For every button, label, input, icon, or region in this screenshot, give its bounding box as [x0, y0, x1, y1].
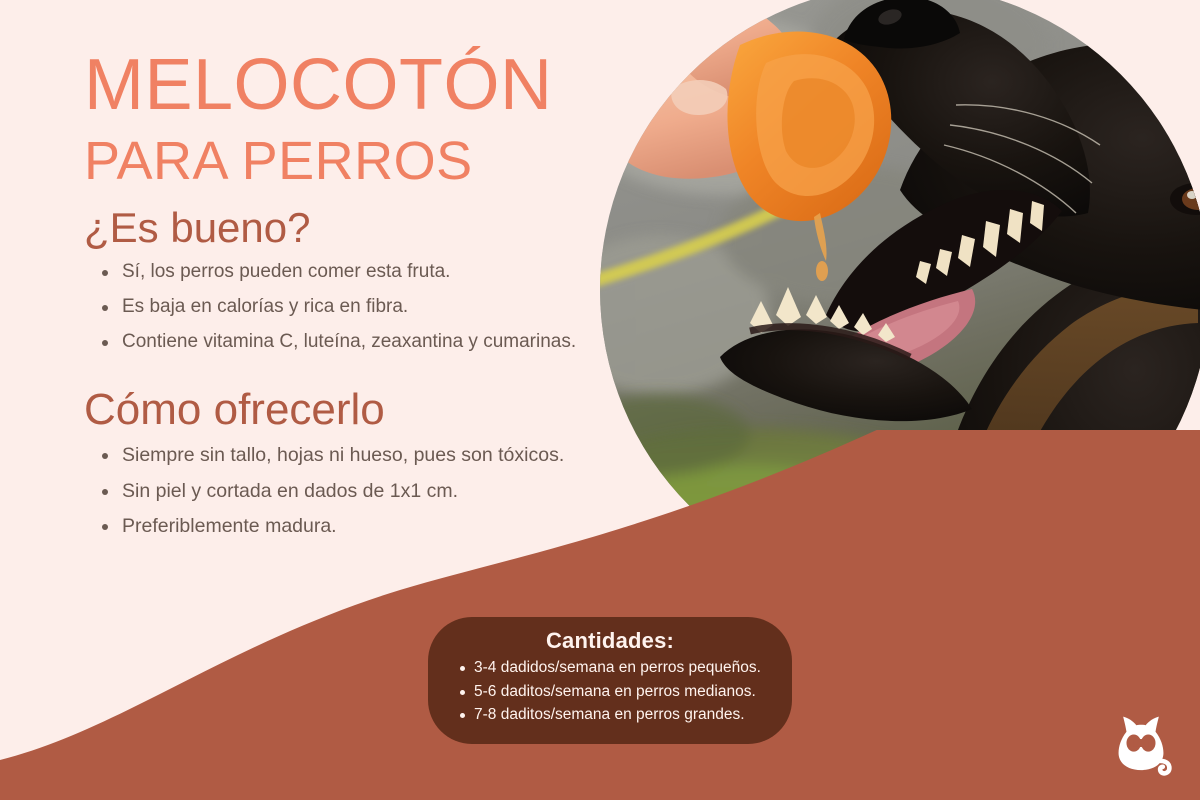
list-item: 3-4 dadidos/semana en perros pequeños.: [474, 656, 792, 680]
content-column: MELOCOTÓN PARA PERROS ¿Es bueno? Sí, los…: [84, 50, 624, 547]
section-heading-como-ofrecerlo: Cómo ofrecerlo: [84, 386, 624, 434]
howto-list: Siempre sin tallo, hojas ni hueso, pues …: [84, 440, 624, 543]
page-title: MELOCOTÓN: [84, 50, 624, 121]
quantities-list: 3-4 dadidos/semana en perros pequeños. 5…: [428, 656, 792, 727]
list-item: 7-8 daditos/semana en perros grandes.: [474, 703, 792, 727]
list-item: Sin piel y cortada en dados de 1x1 cm.: [118, 476, 624, 508]
cat-logo-icon: [1108, 712, 1174, 778]
list-item: Contiene vitamina C, luteína, zeaxantina…: [118, 327, 624, 358]
list-item: Sí, los perros pueden comer esta fruta.: [118, 257, 624, 288]
infographic-poster: MELOCOTÓN PARA PERROS ¿Es bueno? Sí, los…: [0, 0, 1200, 800]
quantities-box: Cantidades: 3-4 dadidos/semana en perros…: [428, 617, 792, 744]
page-subtitle: PARA PERROS: [84, 133, 624, 190]
list-item: Es baja en calorías y rica en fibra.: [118, 292, 624, 323]
benefits-list: Sí, los perros pueden comer esta fruta. …: [84, 257, 624, 357]
list-item: 5-6 daditos/semana en perros medianos.: [474, 680, 792, 704]
quantities-title: Cantidades:: [428, 628, 792, 654]
list-item: Siempre sin tallo, hojas ni hueso, pues …: [118, 440, 624, 472]
list-item: Preferiblemente madura.: [118, 511, 624, 543]
section-heading-es-bueno: ¿Es bueno?: [84, 205, 624, 251]
